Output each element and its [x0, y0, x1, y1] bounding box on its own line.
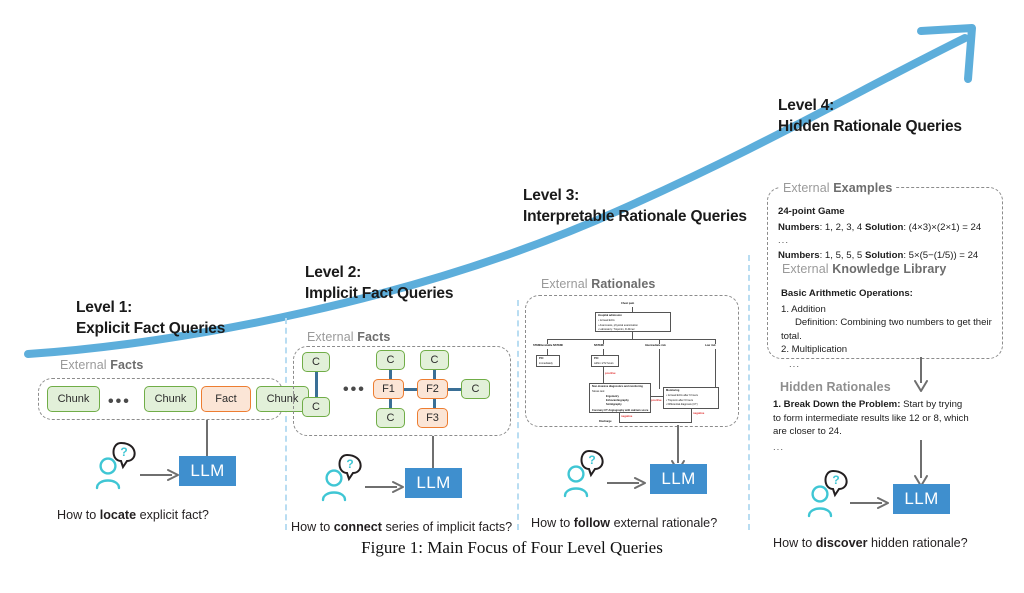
section-label-bold: Facts — [357, 330, 390, 344]
discharge-label: Discharge — [599, 420, 612, 423]
flow-line — [619, 422, 692, 423]
branch-label-2: NSTEMI — [594, 344, 604, 347]
examples-line-2-numbers: : 1, 5, 5, 5 — [820, 250, 865, 261]
llm-label: LLM — [661, 469, 695, 489]
graph-node-f1[interactable]: F1 — [373, 379, 404, 399]
level-3-question: How to follow external rationale? — [531, 516, 717, 530]
examples-heading: 24-point Game — [778, 205, 998, 219]
branch-label-1: STEMI/unstable NSTEMI — [533, 344, 563, 347]
edge-label-negative-2: negative — [693, 411, 704, 415]
svg-text:?: ? — [832, 473, 839, 487]
noninvasive-title: Non-invasive diagnostics and monitoring — [592, 385, 643, 388]
chunk-node-2[interactable]: Chunk — [144, 386, 197, 412]
section-label-plain: External — [60, 358, 110, 372]
noninvasive-line-2: Ergometry — [606, 395, 619, 398]
llm-label: LLM — [416, 473, 450, 493]
figure-caption: Figure 1: Main Focus of Four Level Queri… — [0, 538, 1024, 558]
level-1-question: How to locate explicit fact? — [57, 508, 209, 522]
flowchart-monitoring-box: Monitoring • 12-lead ECG after 6 hours •… — [663, 387, 719, 409]
section-label-plain: External — [783, 181, 833, 195]
flowchart-pci-immediate-box: PCI immediately — [536, 355, 560, 367]
section-label-plain: External — [307, 330, 357, 344]
graph-node-c1-label: C — [312, 356, 320, 368]
flowchart-pci-timed-box: PCI within 1/72 hours — [591, 355, 619, 367]
flowchart-noninvasive-box: Non-invasive diagnostics and monitoring … — [589, 383, 651, 413]
level-1-title-line1: Level 1: — [76, 297, 225, 318]
level-2-title: Level 2: Implicit Fact Queries — [305, 262, 453, 305]
examples-line-2-numbers-label: Numbers — [778, 250, 820, 261]
graph-node-c6-label: C — [387, 412, 395, 424]
user-question-icon: ? — [562, 448, 618, 500]
graph-node-c2[interactable]: C — [302, 397, 330, 417]
llm-label: LLM — [904, 489, 938, 509]
graph-node-c3[interactable]: C — [376, 350, 405, 370]
monitoring-line-2: • Troponin after 6 hours — [666, 399, 693, 402]
level-1-title: Level 1: Explicit Fact Queries — [76, 297, 225, 340]
graph-node-c5[interactable]: C — [461, 379, 490, 399]
svg-text:?: ? — [346, 457, 353, 471]
svg-text:?: ? — [588, 453, 595, 467]
examples-ellipsis: ... — [778, 238, 998, 245]
examples-line-2: Numbers: 1, 5, 5, 5 Solution: 5×(5−(1/5)… — [778, 249, 998, 263]
flow-line — [632, 332, 633, 339]
graph-node-c6[interactable]: C — [376, 408, 405, 428]
level-4-title: Level 4: Hidden Rationale Queries — [778, 95, 962, 138]
library-item-2: 2. Multiplication — [781, 343, 997, 357]
library-heading: Basic Arithmetic Operations: — [781, 287, 997, 301]
graph-node-c2-label: C — [312, 401, 320, 413]
examples-line-1-numbers: : 1, 2, 3, 4 — [820, 222, 865, 233]
noninvasive-line-5: Coronary CT Angiography with calcium sco… — [592, 409, 648, 412]
hidden-rationales-label: Hidden Rationales — [780, 380, 891, 394]
level-3-section-label: External Rationales — [541, 277, 655, 291]
library-item-1-definition: Definition: Combining two numbers to get… — [781, 316, 997, 343]
level-4-user-to-llm-arrow — [850, 496, 892, 510]
flow-line — [691, 409, 692, 423]
branch-label-3: Intermediate risk — [645, 344, 666, 347]
examples-line-2-solution: : 5×(5−(1/5)) = 24 — [903, 250, 978, 261]
pci-immediate-sub: immediately — [539, 362, 553, 365]
graph-node-c3-label: C — [387, 354, 395, 366]
figure-canvas: Level 1: Explicit Fact Queries External … — [0, 0, 1024, 593]
flow-line — [651, 396, 663, 397]
fact-node-1-label: Fact — [215, 393, 236, 405]
graph-node-f3[interactable]: F3 — [417, 408, 448, 428]
level-2-title-line2: Implicit Fact Queries — [305, 283, 453, 304]
hidden-rationale-bold: 1. Break Down the Problem: — [773, 399, 900, 410]
section-label-bold: Facts — [110, 358, 143, 372]
examples-line-2-solution-label: Solution — [865, 250, 903, 261]
edge-label-positive-2: positive — [651, 398, 662, 402]
flowchart-root-label: Chest pain — [621, 302, 634, 305]
panel-level-4: Level 4: Hidden Rationale Queries Extern… — [748, 95, 1024, 530]
noninvasive-line-1: Stress test: — [592, 390, 605, 393]
question-bold: locate — [100, 508, 136, 522]
level-2-question: How to connect series of implicit facts? — [291, 520, 512, 534]
level-4-down-arrow — [910, 440, 932, 488]
question-bold: follow — [574, 516, 610, 530]
level-4-knowledge-to-rationale-arrow — [910, 357, 932, 393]
level-3-title-line2: Interpretable Rationale Queries — [523, 206, 747, 227]
branch-label-4: Low risk — [705, 344, 716, 347]
noninvasive-line-3: Echocardiography — [606, 399, 629, 402]
admission-title: Hospital admission — [598, 314, 622, 317]
examples-line-1: Numbers: 1, 2, 3, 4 Solution: (4×3)×(2×1… — [778, 221, 998, 235]
admission-line-2: • Anamnesis, physical examination — [598, 324, 638, 327]
level-1-ellipsis: ••• — [108, 394, 131, 410]
hidden-rationale-ellipsis: ... — [773, 445, 969, 452]
section-label-bold: Examples — [833, 181, 892, 195]
level-4-title-line2: Hidden Rationale Queries — [778, 116, 962, 137]
graph-node-f2-label: F2 — [426, 383, 439, 395]
edge-label-positive-1: positive — [605, 371, 616, 375]
pci-immediate-title: PCI — [539, 357, 543, 360]
library-item-1: 1. Addition — [781, 303, 997, 317]
noninvasive-line-4: Scintigraphy — [606, 403, 622, 406]
chunk-node-2-label: Chunk — [155, 393, 187, 405]
graph-node-c4-label: C — [431, 354, 439, 366]
user-question-icon: ? — [806, 468, 862, 520]
fact-node-1[interactable]: Fact — [201, 386, 251, 412]
llm-box-level-4[interactable]: LLM — [893, 484, 950, 514]
graph-node-f2[interactable]: F2 — [417, 379, 448, 399]
question-prefix: How to — [531, 516, 574, 530]
ellipsis-label: ••• — [108, 393, 131, 410]
flowchart-admission-box: Hospital admission • 12-lead ECG • Anamn… — [595, 312, 671, 332]
flow-line — [603, 367, 604, 383]
llm-box-level-1[interactable]: LLM — [179, 456, 236, 486]
level-2-section-label: External Facts — [307, 330, 390, 344]
section-label-plain: External — [541, 277, 591, 291]
chunk-node-1[interactable]: Chunk — [47, 386, 100, 412]
level-2-title-line1: Level 2: — [305, 262, 453, 283]
level-2-ellipsis: ••• — [343, 382, 366, 398]
panel-level-2: Level 2: Implicit Fact Queries External … — [285, 262, 517, 530]
examples-block: 24-point Game Numbers: 1, 2, 3, 4 Soluti… — [778, 205, 998, 263]
hidden-rationale-text: 1. Break Down the Problem: Start by tryi… — [773, 398, 969, 439]
question-suffix: explicit fact? — [136, 508, 209, 522]
ellipsis-label: ••• — [343, 381, 366, 398]
edge-label-negative-1: negative — [621, 414, 632, 418]
level-3-title: Level 3: Interpretable Rationale Queries — [523, 185, 747, 228]
question-bold: connect — [334, 520, 382, 534]
llm-label: LLM — [190, 461, 224, 481]
level-3-user-to-llm-arrow — [607, 476, 649, 490]
user-question-icon: ? — [320, 452, 376, 504]
admission-line-3: • Laboratory: Troponin, D-Dimer — [598, 328, 635, 331]
level-4-title-line1: Level 4: — [778, 95, 962, 116]
hidden-rationale-block: 1. Break Down the Problem: Start by tryi… — [773, 398, 969, 452]
graph-node-f1-label: F1 — [382, 383, 395, 395]
question-suffix: series of implicit facts? — [382, 520, 512, 534]
level-3-title-line1: Level 3: — [523, 185, 747, 206]
level-1-title-line2: Explicit Fact Queries — [76, 318, 225, 339]
monitoring-title: Monitoring — [666, 389, 679, 392]
examples-line-1-solution: : (4×3)×(2×1) = 24 — [903, 222, 981, 233]
graph-node-c1[interactable]: C — [302, 352, 330, 372]
llm-box-level-3[interactable]: LLM — [650, 464, 707, 494]
clinical-flowchart: Chest pain Hospital admission • 12-lead … — [533, 301, 733, 423]
library-block: Basic Arithmetic Operations: 1. Addition… — [781, 287, 997, 369]
library-ellipsis: ... — [781, 362, 997, 369]
section-label-bold: Rationales — [591, 277, 655, 291]
examples-line-1-numbers-label: Numbers — [778, 222, 820, 233]
section-label-bold: Knowledge Library — [832, 262, 946, 276]
pci-timed-title: PCI — [594, 357, 598, 360]
flow-line — [547, 339, 715, 340]
svg-text:?: ? — [120, 445, 127, 459]
question-suffix: external rationale? — [610, 516, 717, 530]
llm-box-level-2[interactable]: LLM — [405, 468, 462, 498]
external-examples-label: External Examples — [780, 181, 895, 195]
graph-node-f3-label: F3 — [426, 412, 439, 424]
level-2-user-to-llm-arrow — [365, 480, 407, 494]
flow-line — [659, 349, 660, 389]
panel-level-3: Level 3: Interpretable Rationale Queries… — [517, 185, 748, 530]
section-label-plain: External — [782, 262, 832, 276]
chunk-node-1-label: Chunk — [58, 393, 90, 405]
examples-line-1-solution-label: Solution — [865, 222, 903, 233]
question-prefix: How to — [291, 520, 334, 534]
graph-node-c5-label: C — [472, 383, 480, 395]
level-1-section-label: External Facts — [60, 358, 143, 372]
question-prefix: How to — [57, 508, 100, 522]
graph-node-c4[interactable]: C — [420, 350, 449, 370]
admission-line-1: • 12-lead ECG — [598, 319, 615, 322]
pci-timed-sub: within 1/72 hours — [594, 362, 614, 365]
level-1-user-to-llm-arrow — [140, 468, 182, 482]
monitoring-line-1: • 12-lead ECG after 6 hours — [666, 394, 698, 397]
panel-level-1: Level 1: Explicit Fact Queries External … — [0, 290, 285, 530]
user-question-icon: ? — [94, 440, 150, 492]
monitoring-line-3: • Differential diagnosis (CT) — [666, 403, 698, 406]
external-knowledge-library-label: External Knowledge Library — [782, 262, 946, 276]
